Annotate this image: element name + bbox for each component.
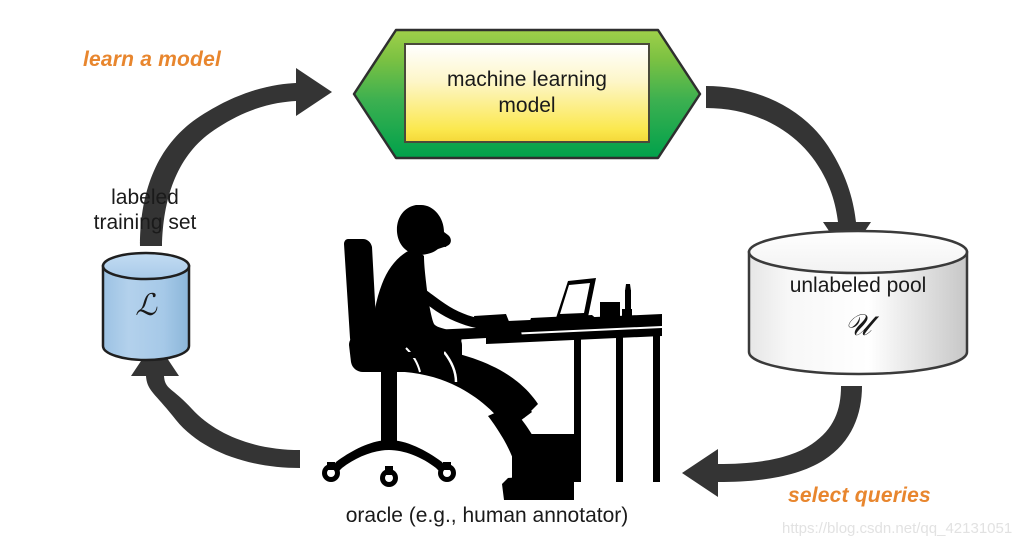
- unlabeled-pool-cylinder[interactable]: unlabeled pool 𝒰: [746, 228, 970, 378]
- labeled-training-set-cylinder[interactable]: ℒ: [100, 250, 192, 362]
- labeled-training-set-caption: labeled training set: [94, 186, 197, 236]
- cylinder-shape-pool: [746, 228, 970, 378]
- cylinder-shape-labeled: [100, 250, 192, 362]
- machine-learning-model-node[interactable]: machine learning model: [352, 28, 702, 160]
- edge-label-learn-a-model: learn a model: [83, 48, 221, 73]
- edge-label-select-queries: select queries: [788, 484, 931, 509]
- watermark-text: https://blog.csdn.net/qq_42131051: [782, 520, 1012, 537]
- model-label-box: machine learning model: [404, 43, 650, 143]
- oracle-caption: oracle (e.g., human annotator): [346, 504, 629, 529]
- model-label-text: machine learning model: [447, 67, 607, 120]
- active-learning-diagram: machine learning model labeled training …: [0, 0, 1036, 547]
